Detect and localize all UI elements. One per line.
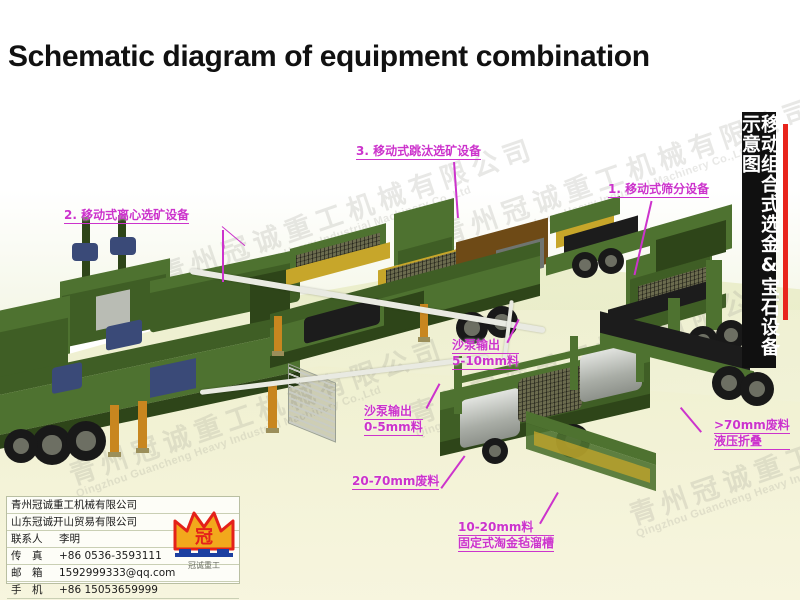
flow-label-waste-over-70: >70mm废料 液压折叠 [714,418,790,450]
equipment-label-1: 1. 移动式筛分设备 [608,182,709,198]
flow-label-sand-pump-0-5: 沙泵输出 0-5mm料 [364,404,423,436]
fax-value: +86 0536-3593111 [59,550,162,562]
mobile-value: +86 15053659999 [59,584,158,596]
company-mobile-row: 手 机+86 15053659999 [7,582,239,599]
company-logo: 冠 冠诚重工 [171,505,237,577]
red-accent-bar [783,124,788,320]
vertical-banner-text: 移动组合式选金&宝石设备示意图 [740,114,778,366]
vertical-banner: 移动组合式选金&宝石设备示意图 [742,112,776,368]
email-value[interactable]: 1592999333@qq.com [59,567,175,579]
logo-text: 冠诚重工 [188,560,220,570]
fax-label: 传 真 [11,548,59,564]
equipment-label-3: 3. 移动式跳汰选矿设备 [356,144,481,160]
equipment-label-2: 2. 移动式离心选矿设备 [64,208,189,224]
contact-value: 李明 [59,533,80,545]
company-info-card: 青州冠诚重工机械有限公司 山东冠诚开山贸易有限公司 联系人李明 传 真+86 0… [6,496,240,584]
svg-text:冠: 冠 [195,527,213,548]
flow-label-sluice-10-20: 10-20mm料 固定式淘金毡溜槽 [458,520,554,552]
flow-label-sand-pump-5-10: 沙泵输出 5-10mm料 [452,338,519,370]
pointer-line-2 [222,230,224,282]
page-title: Schematic diagram of equipment combinati… [8,40,650,74]
schematic-canvas: 青州冠诚重工机械有限公司 Qingzhou Guancheng Heavy In… [0,0,800,600]
contact-label: 联系人 [11,531,59,547]
flow-label-waste-20-70: 20-70mm废料 [352,474,439,490]
email-label: 邮 箱 [11,565,59,581]
mobile-label: 手 机 [11,582,59,598]
